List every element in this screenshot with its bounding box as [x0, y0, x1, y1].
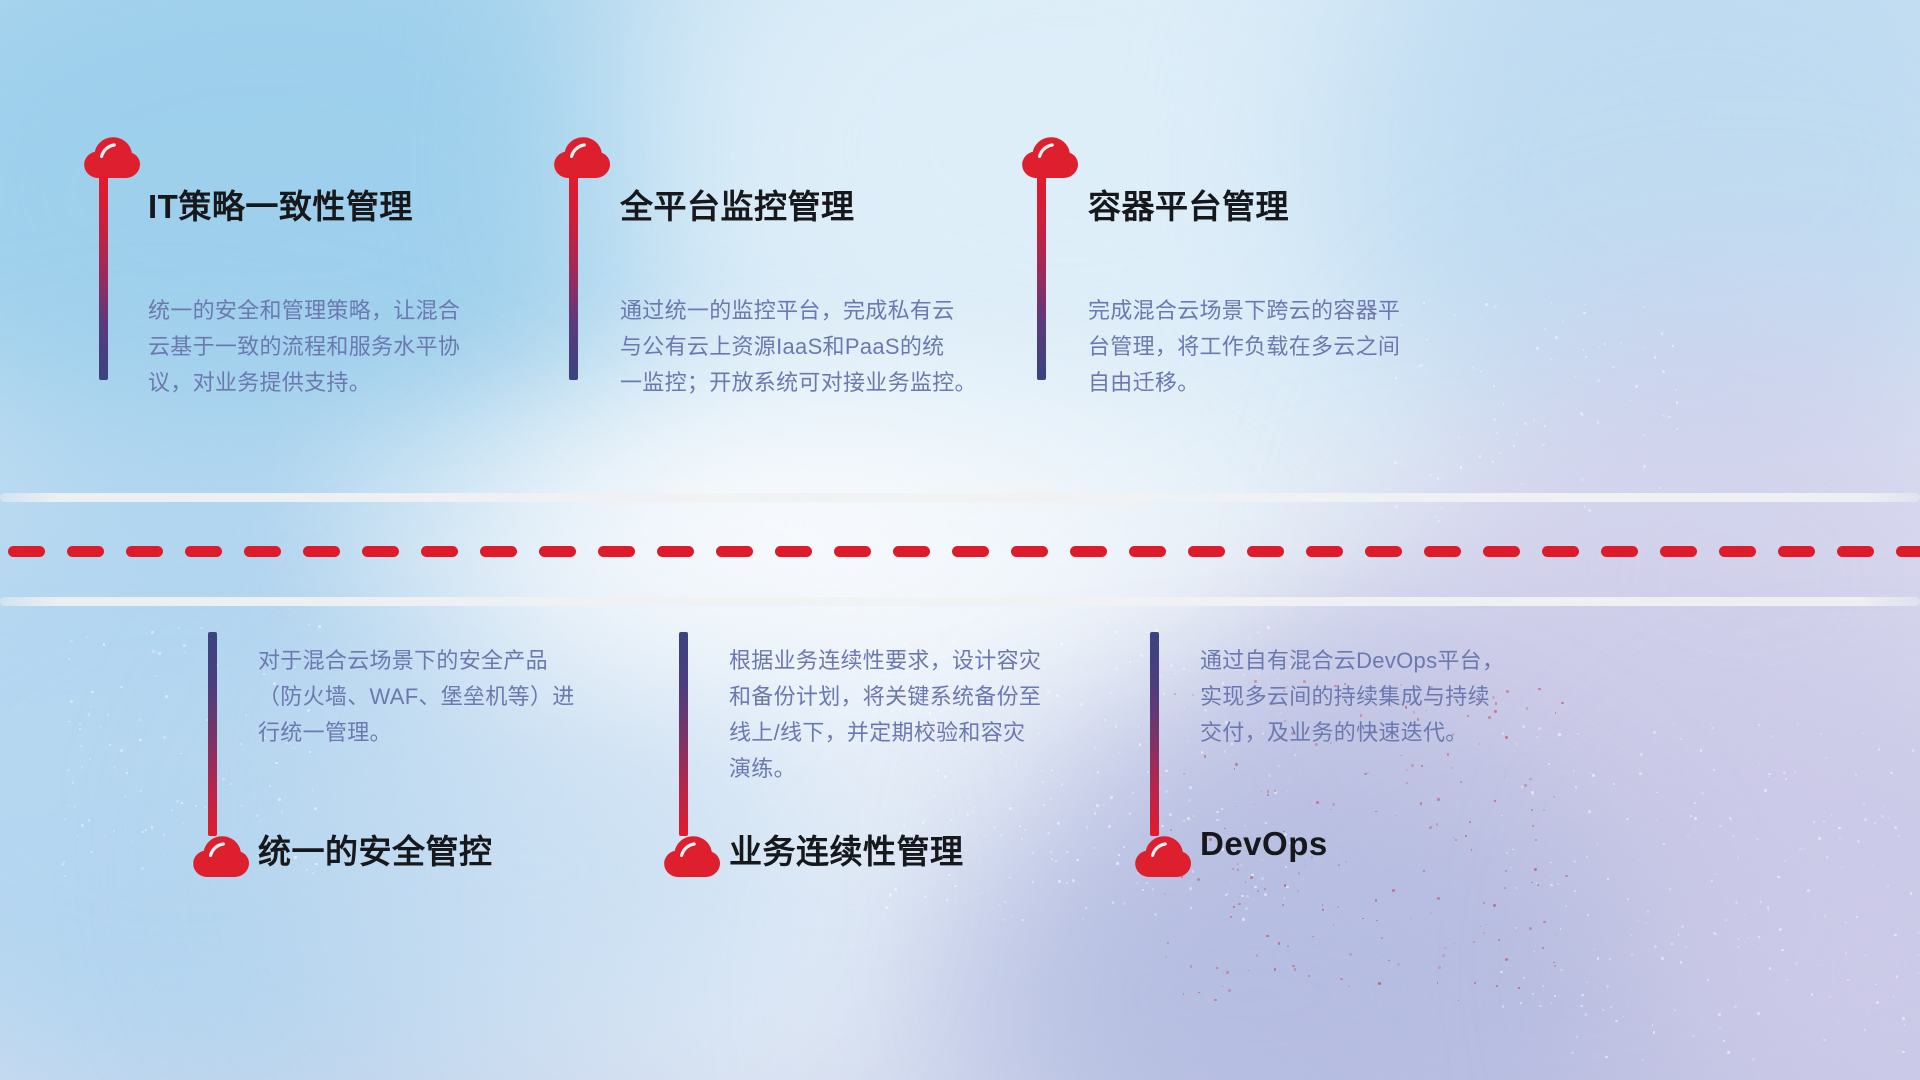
speckle [64, 875, 66, 877]
speckle [959, 797, 961, 799]
speckle [1163, 693, 1165, 695]
speckle [1274, 968, 1276, 970]
speckle [1337, 906, 1339, 908]
speckle [1362, 918, 1364, 920]
speckle [1496, 432, 1497, 433]
speckle [1145, 631, 1147, 633]
speckle [1024, 829, 1025, 830]
speckle [1712, 727, 1714, 729]
speckle [1502, 1005, 1504, 1007]
speckle [1460, 781, 1461, 782]
speckle [1606, 985, 1608, 987]
dash-segment [1070, 546, 1107, 557]
speckle [1338, 864, 1340, 866]
speckle [1661, 957, 1664, 960]
speckle [1066, 882, 1068, 884]
speckle [1713, 932, 1714, 933]
speckle [1565, 772, 1566, 773]
speckle [1656, 792, 1657, 793]
cloud-icon [1020, 133, 1080, 179]
speckle [1492, 461, 1494, 463]
speckle [1536, 882, 1538, 884]
speckle [1550, 884, 1552, 886]
speckle [178, 627, 180, 629]
speckle [1581, 478, 1584, 481]
speckle [1297, 890, 1299, 892]
speckle [1115, 667, 1118, 670]
cloud-icon [191, 832, 251, 878]
speckle [1838, 827, 1840, 829]
column-stem [569, 176, 578, 380]
speckle [1378, 982, 1381, 985]
speckle [1620, 342, 1622, 344]
dash-segment [1896, 546, 1920, 557]
speckle [1451, 767, 1453, 769]
speckle [1820, 733, 1822, 735]
speckle [1188, 740, 1189, 741]
speckle [79, 728, 81, 730]
speckle [1737, 946, 1739, 948]
speckle [1437, 897, 1440, 900]
speckle [1058, 880, 1061, 883]
speckle [309, 751, 311, 753]
cloud-icon [82, 133, 142, 179]
cloud-icon [1133, 832, 1193, 878]
speckle [204, 806, 206, 808]
speckle [1818, 837, 1821, 840]
speckle [1277, 765, 1280, 768]
speckle [1197, 878, 1200, 881]
speckle [1406, 769, 1407, 770]
speckle [996, 623, 999, 626]
speckle [1189, 887, 1191, 889]
speckle [1498, 939, 1500, 941]
speckle [88, 819, 90, 821]
speckle [1690, 815, 1692, 817]
dash-segment [67, 546, 104, 557]
dash-segment [421, 546, 458, 557]
speckle [1752, 1058, 1755, 1061]
speckle [1444, 947, 1446, 949]
speckle [1523, 977, 1525, 979]
speckle [1278, 942, 1281, 945]
speckle [1845, 922, 1846, 923]
speckle [81, 824, 84, 827]
speckle [1896, 975, 1898, 977]
dash-segment [362, 546, 399, 557]
speckle [1264, 888, 1266, 890]
speckle [81, 766, 83, 768]
speckle [1115, 630, 1118, 633]
speckle [1562, 320, 1565, 323]
speckle [1009, 804, 1010, 805]
speckle [1228, 989, 1231, 992]
speckle [1661, 332, 1664, 335]
speckle [1585, 356, 1587, 358]
dash-segment [1011, 546, 1048, 557]
speckle [1388, 960, 1390, 962]
speckle [1332, 803, 1335, 806]
speckle [80, 745, 82, 747]
speckle [1609, 958, 1610, 959]
speckle [1544, 328, 1546, 330]
speckle [1103, 650, 1105, 652]
dash-segment [1542, 546, 1579, 557]
dash-segment [1424, 546, 1461, 557]
speckle [1094, 746, 1096, 748]
speckle [1435, 516, 1437, 518]
speckle [1839, 837, 1841, 839]
infographic-canvas: IT策略一致性管理 统一的安全和管理策略，让混合 云基于一致的流程和服务水平协 … [0, 0, 1920, 1080]
speckle [1108, 825, 1111, 828]
column-body: 根据业务连续性要求，设计容灾 和备份计划，将关键系统备份至 线上/线下，并定期校… [729, 643, 1089, 787]
speckle [1169, 813, 1172, 816]
speckle [1757, 1012, 1760, 1015]
column-stem [1150, 632, 1159, 836]
speckle [1573, 860, 1576, 863]
speckle [318, 625, 321, 628]
speckle [1795, 962, 1797, 964]
dash-segment [1837, 546, 1874, 557]
speckle [195, 805, 197, 807]
cloud-icon [552, 133, 612, 179]
speckle [1400, 755, 1401, 756]
speckle [1529, 778, 1531, 780]
dash-segment [185, 546, 222, 557]
speckle [1723, 1040, 1725, 1042]
speckle [1769, 967, 1771, 969]
dash-segment [952, 546, 989, 557]
speckle [1340, 978, 1342, 980]
speckle [1654, 945, 1657, 948]
speckle [1214, 999, 1217, 1002]
speckle [1735, 901, 1738, 904]
speckle [1829, 996, 1831, 998]
speckle [1265, 822, 1266, 823]
speckle [1645, 922, 1647, 924]
speckle [1554, 995, 1556, 997]
speckle [1154, 913, 1157, 916]
speckle [1531, 809, 1532, 810]
speckle [1140, 654, 1143, 657]
speckle [1367, 772, 1369, 774]
column-body: 通过自有混合云DevOps平台， 实现多云间的持续集成与持续 交付，及业务的快速… [1200, 643, 1580, 751]
speckle [64, 818, 66, 820]
dash-segment [539, 546, 576, 557]
speckle [1086, 826, 1089, 829]
speckle [171, 809, 173, 811]
red-dashed-rule [0, 546, 1920, 557]
speckle [1779, 928, 1782, 931]
speckle [145, 829, 147, 831]
speckle [1918, 954, 1919, 955]
speckle [1381, 937, 1383, 939]
column-title: 容器平台管理 [1088, 180, 1289, 228]
dash-segment [1660, 546, 1697, 557]
speckle [1692, 1035, 1694, 1037]
speckle [1803, 848, 1804, 849]
speckle [950, 819, 952, 821]
speckle [163, 736, 166, 739]
speckle [139, 718, 142, 721]
speckle [1813, 821, 1815, 823]
speckle [1152, 888, 1154, 890]
column-stem [99, 176, 108, 380]
speckle [1764, 789, 1767, 792]
speckle [1184, 707, 1186, 709]
speckle [1734, 1005, 1737, 1008]
speckle [922, 821, 925, 824]
speckle [1642, 305, 1645, 308]
speckle [1085, 907, 1087, 909]
speckle [107, 714, 109, 716]
column-title: 统一的安全管控 [258, 825, 493, 873]
speckle [1571, 1052, 1574, 1055]
dash-segment [657, 546, 694, 557]
speckle [1592, 774, 1595, 777]
speckle [954, 885, 956, 887]
speckle [1474, 982, 1476, 984]
speckle [90, 706, 91, 707]
speckle [1777, 876, 1779, 878]
speckle [1518, 987, 1519, 988]
speckle [1494, 800, 1495, 801]
speckle [1897, 1050, 1899, 1052]
speckle [1392, 889, 1394, 891]
speckle [1193, 815, 1195, 817]
speckle [152, 650, 155, 653]
speckle [1597, 421, 1599, 423]
speckle [164, 692, 165, 693]
speckle [1864, 818, 1867, 821]
speckle [62, 863, 64, 865]
speckle [1612, 366, 1614, 368]
speckle [1510, 867, 1511, 868]
speckle [971, 632, 972, 633]
speckle [1436, 823, 1439, 826]
speckle [278, 798, 281, 801]
speckle [1132, 792, 1134, 794]
speckle [1574, 890, 1576, 892]
speckle [1718, 1013, 1721, 1016]
speckle [1917, 972, 1919, 974]
speckle [1395, 505, 1398, 508]
speckle [1565, 905, 1567, 907]
speckle [70, 700, 73, 703]
speckle [1662, 370, 1665, 373]
speckle [1758, 724, 1760, 726]
speckle [1640, 753, 1643, 756]
speckle [1240, 864, 1242, 866]
speckle [1799, 848, 1801, 850]
speckle [1004, 901, 1006, 903]
speckle [1574, 376, 1576, 378]
dash-segment [1483, 546, 1520, 557]
speckle [1784, 860, 1786, 862]
speckle [1246, 895, 1248, 897]
dash-segment [1719, 546, 1756, 557]
speckle [91, 691, 94, 694]
speckle [952, 640, 955, 643]
speckle [1863, 802, 1865, 804]
speckle [1250, 876, 1253, 879]
speckle [1524, 784, 1527, 787]
speckle [1096, 804, 1099, 807]
speckle [1604, 343, 1606, 345]
speckle [1481, 319, 1482, 320]
speckle [1442, 954, 1445, 957]
speckle [1032, 881, 1034, 883]
speckle [1674, 1009, 1676, 1011]
speckle [1308, 975, 1310, 977]
column-title: 业务连续性管理 [729, 825, 964, 873]
speckle [1174, 693, 1176, 695]
speckle [1586, 856, 1588, 858]
speckle [889, 893, 892, 896]
white-rule-top [0, 493, 1920, 502]
speckle [125, 826, 127, 828]
dash-segment [1365, 546, 1402, 557]
speckle [1496, 985, 1498, 987]
speckle [1364, 773, 1366, 775]
speckle [1264, 893, 1267, 896]
speckle [1375, 811, 1376, 812]
speckle [980, 860, 982, 862]
dash-segment [1778, 546, 1815, 557]
column-body: 通过统一的监控平台，完成私有云 与公有云上资源IaaS和PaaS的统 一监控；开… [620, 293, 1010, 401]
speckle [165, 695, 168, 698]
speckle [120, 686, 123, 689]
speckle [1394, 461, 1397, 464]
speckle [1268, 774, 1270, 776]
speckle [1241, 895, 1243, 897]
speckle [1512, 849, 1514, 851]
speckle [1165, 956, 1166, 957]
dash-segment [303, 546, 340, 557]
speckle [885, 906, 888, 909]
speckle [1505, 870, 1507, 872]
speckle [1183, 773, 1185, 775]
speckle [1106, 621, 1109, 624]
speckle [1284, 897, 1286, 899]
speckle [226, 771, 228, 773]
speckle [1534, 868, 1537, 871]
speckle [1573, 770, 1575, 772]
column-stem [1037, 176, 1046, 380]
dash-segment [1247, 546, 1284, 557]
column-title: 全平台监控管理 [620, 180, 855, 228]
speckle [1097, 771, 1099, 773]
speckle [1635, 385, 1638, 388]
speckle [1639, 772, 1642, 775]
speckle [132, 840, 133, 841]
speckle [1659, 487, 1661, 489]
speckle [1423, 870, 1425, 872]
speckle [1536, 347, 1539, 350]
speckle [1267, 626, 1269, 628]
speckle [241, 805, 243, 807]
speckle [1349, 953, 1352, 956]
speckle [1542, 947, 1544, 949]
speckle [1123, 902, 1125, 904]
speckle [1533, 951, 1534, 952]
speckle [1261, 877, 1264, 880]
speckle [1493, 904, 1496, 907]
speckle [1711, 880, 1713, 882]
dash-segment [716, 546, 753, 557]
speckle [1553, 796, 1555, 798]
speckle [1714, 873, 1716, 875]
speckle [1672, 345, 1673, 346]
dash-segment [1188, 546, 1225, 557]
speckle [1553, 962, 1555, 964]
speckle [1411, 764, 1413, 766]
speckle [1643, 434, 1645, 436]
speckle [1237, 869, 1239, 871]
speckle [1226, 971, 1229, 974]
speckle [158, 652, 161, 655]
speckle [1542, 444, 1544, 446]
speckle [1532, 825, 1534, 827]
speckle [1669, 888, 1671, 890]
speckle [1138, 687, 1139, 688]
speckle [113, 830, 115, 832]
speckle [1874, 822, 1876, 824]
speckle [1257, 890, 1258, 891]
column-stem [208, 632, 217, 836]
speckle [245, 714, 247, 716]
speckle [1050, 798, 1052, 800]
speckle [1322, 909, 1323, 910]
speckle [151, 631, 153, 633]
speckle [1501, 815, 1502, 816]
dash-segment [834, 546, 871, 557]
speckle [1654, 356, 1657, 359]
speckle [1050, 851, 1052, 853]
speckle [1605, 1056, 1607, 1058]
speckle [141, 867, 144, 870]
speckle [1235, 763, 1238, 766]
speckle [1506, 852, 1508, 854]
dash-segment [480, 546, 517, 557]
dash-segment [8, 546, 45, 557]
speckle [1881, 815, 1884, 818]
speckle [1902, 1017, 1904, 1019]
speckle [182, 822, 184, 824]
speckle [1588, 810, 1591, 813]
speckle [1066, 851, 1068, 853]
speckle [1891, 1060, 1892, 1061]
speckle [1136, 882, 1137, 883]
speckle [1856, 916, 1858, 918]
dash-segment [244, 546, 281, 557]
dash-segment [775, 546, 812, 557]
speckle [1768, 773, 1770, 775]
speckle [1397, 963, 1400, 966]
speckle [1586, 981, 1588, 983]
white-rule-bottom [0, 597, 1920, 606]
speckle [1460, 466, 1463, 469]
speckle [1878, 748, 1881, 751]
speckle [1225, 894, 1227, 896]
speckle [1744, 880, 1745, 881]
speckle [1768, 909, 1770, 911]
speckle [1165, 770, 1168, 773]
column-body: 完成混合云场景下跨云的容器平 台管理，将工作负载在多云之间 自由迁移。 [1088, 293, 1458, 401]
dash-segment [1306, 546, 1343, 557]
speckle [1118, 752, 1120, 754]
dash-segment [1129, 546, 1166, 557]
